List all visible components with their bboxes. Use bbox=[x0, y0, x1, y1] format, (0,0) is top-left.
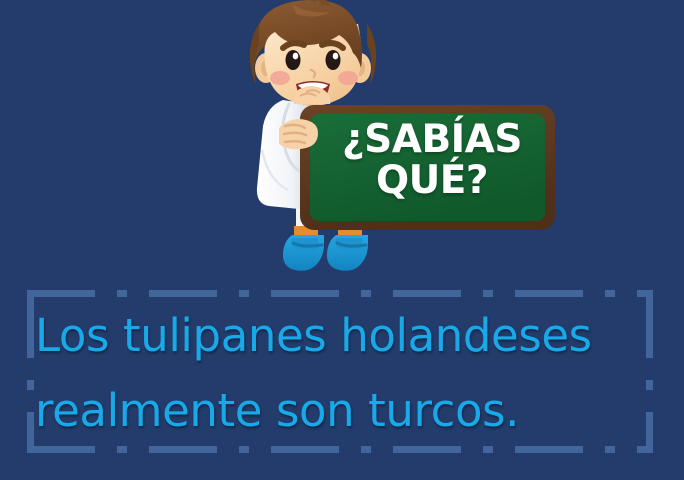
boy-holding-chalkboard-illustration: ¿SABÍAS QUÉ? bbox=[0, 0, 684, 290]
chalkboard-line-2: QUÉ? bbox=[312, 161, 552, 200]
frame-edge-left bbox=[27, 290, 34, 453]
caption-line-1: Los tulipanes holandeses bbox=[35, 298, 650, 373]
caption-text: Los tulipanes holandeses realmente son t… bbox=[35, 298, 650, 448]
slide-canvas: ¿SABÍAS QUÉ? Los tulipanes holandeses re… bbox=[0, 0, 684, 480]
frame-edge-top bbox=[27, 290, 653, 297]
caption-line-2: realmente son turcos. bbox=[35, 373, 650, 448]
chalkboard-line-1: ¿SABÍAS bbox=[312, 120, 552, 159]
